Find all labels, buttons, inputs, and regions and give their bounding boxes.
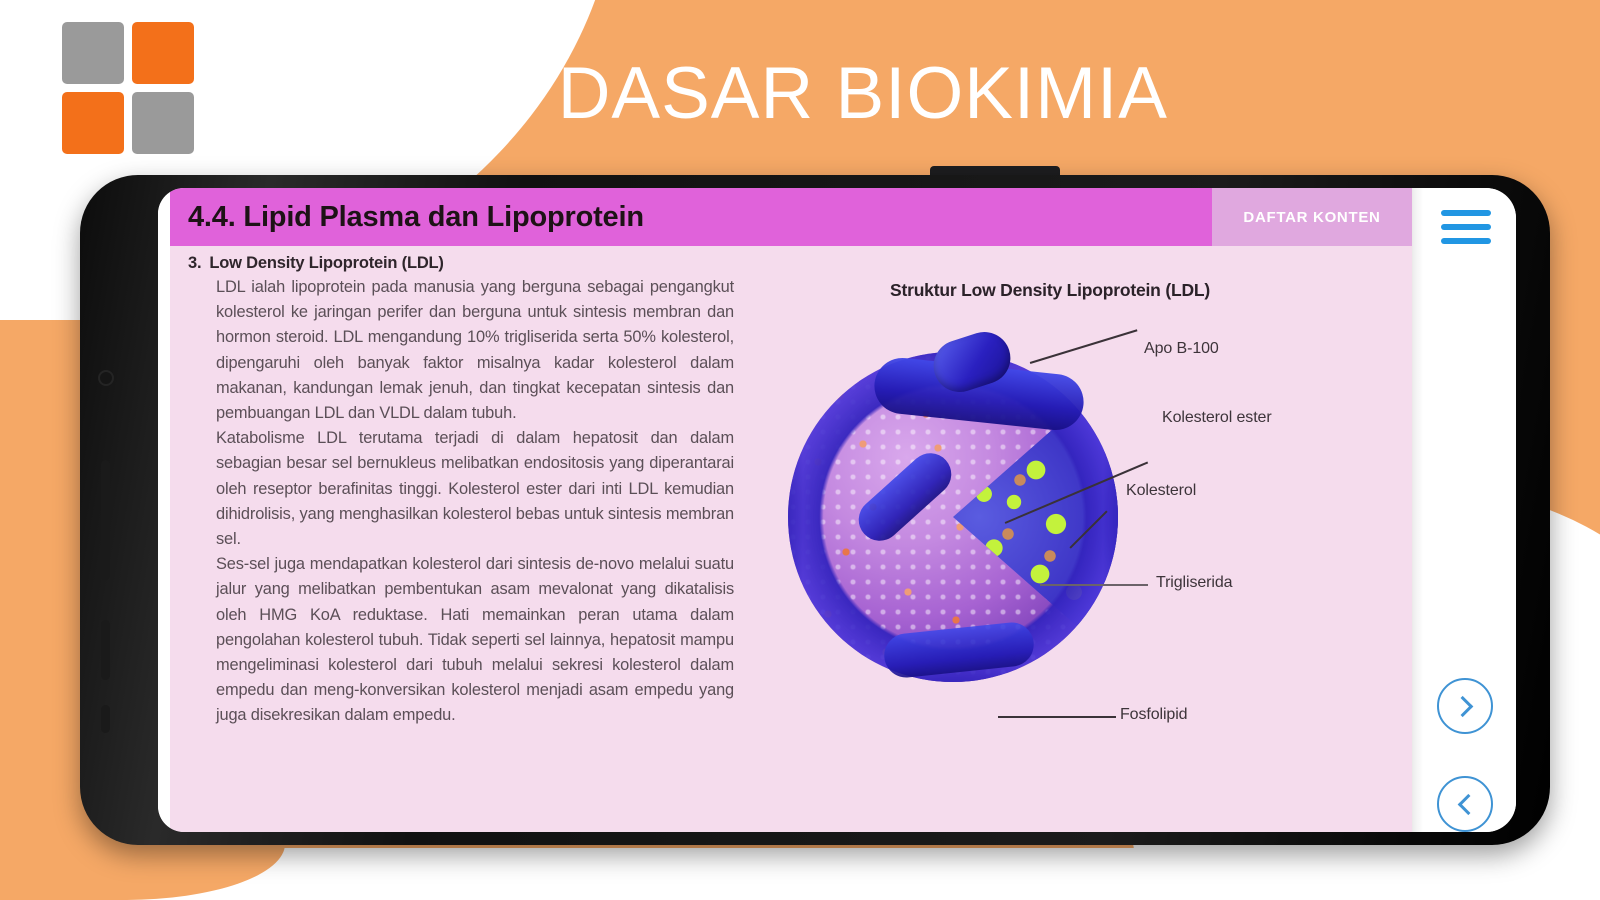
chevron-right-icon	[1452, 695, 1473, 716]
logo-square-bottom-right	[132, 92, 194, 154]
document-page-area: 4.4. Lipid Plasma dan Lipoprotein DAFTAR…	[170, 188, 1412, 832]
figure-label-apo-b-100: Apo B-100	[1144, 340, 1219, 358]
ldl-particle-diagram	[788, 336, 1138, 696]
text-column: 3. Low Density Lipoprotein (LDL) LDL ial…	[170, 254, 740, 832]
previous-page-button[interactable]	[1437, 776, 1493, 832]
phone-side-button-volume	[101, 460, 110, 580]
leader-line-trigliserida	[1040, 584, 1148, 586]
chevron-left-icon	[1457, 793, 1478, 814]
logo-square-top-right	[132, 22, 194, 84]
hamburger-menu-icon[interactable]	[1441, 210, 1491, 244]
document-title-zone: 4.4. Lipid Plasma dan Lipoprotein	[170, 188, 1212, 246]
figure-label-kolesterol-ester: Kolesterol ester	[1162, 409, 1272, 427]
hamburger-bar-2	[1441, 224, 1491, 230]
phone-device-mockup: 4.4. Lipid Plasma dan Lipoprotein DAFTAR…	[80, 175, 1550, 845]
logo-square-bottom-left	[62, 92, 124, 154]
subsection-number: 3.	[188, 254, 201, 273]
phone-screen: 4.4. Lipid Plasma dan Lipoprotein DAFTAR…	[158, 188, 1516, 832]
next-page-button[interactable]	[1437, 678, 1493, 734]
app-banner-title: ILMU DASAR BIOKIMIA	[358, 52, 1168, 135]
logo-square-top-left	[62, 22, 124, 84]
screen-left-gutter	[158, 188, 170, 832]
body-paragraph-2: Katabolisme LDL terutama terjadi di dala…	[188, 426, 734, 552]
four-square-logo	[62, 22, 194, 154]
navigation-rail	[1412, 188, 1516, 832]
phone-side-button-extra	[101, 705, 110, 733]
figure-label-kolesterol: Kolesterol	[1126, 482, 1196, 500]
hamburger-bar-3	[1441, 238, 1491, 244]
document-header-bar: 4.4. Lipid Plasma dan Lipoprotein DAFTAR…	[170, 188, 1412, 246]
page-title: 4.4. Lipid Plasma dan Lipoprotein	[188, 201, 644, 234]
leader-line-fosfolipid	[998, 716, 1116, 718]
table-of-contents-label: DAFTAR KONTEN	[1243, 209, 1380, 226]
figure-title: Struktur Low Density Lipoprotein (LDL)	[790, 280, 1310, 301]
table-of-contents-button[interactable]: DAFTAR KONTEN	[1212, 188, 1412, 246]
hamburger-bar-1	[1441, 210, 1491, 216]
subsection-heading: 3. Low Density Lipoprotein (LDL)	[188, 254, 734, 273]
body-paragraph-3: Ses-sel juga mendapatkan kolesterol dari…	[188, 552, 734, 728]
screenshot-stage: ILMU DASAR BIOKIMIA 4.4. Lipid Plasma da…	[0, 0, 1600, 900]
subsection-title: Low Density Lipoprotein (LDL)	[209, 254, 443, 273]
figure-column: Struktur Low Density Lipoprotein (LDL)	[740, 254, 1412, 832]
rail-inner-shadow	[1413, 188, 1423, 832]
body-paragraph-1: LDL ialah lipoprotein pada manusia yang …	[188, 275, 734, 426]
phone-side-button-power	[101, 620, 110, 680]
phone-front-camera	[98, 370, 114, 386]
figure-label-trigliserida: Trigliserida	[1156, 574, 1232, 592]
document-content: 3. Low Density Lipoprotein (LDL) LDL ial…	[170, 246, 1412, 832]
figure-label-fosfolipid: Fosfolipid	[1120, 706, 1187, 724]
